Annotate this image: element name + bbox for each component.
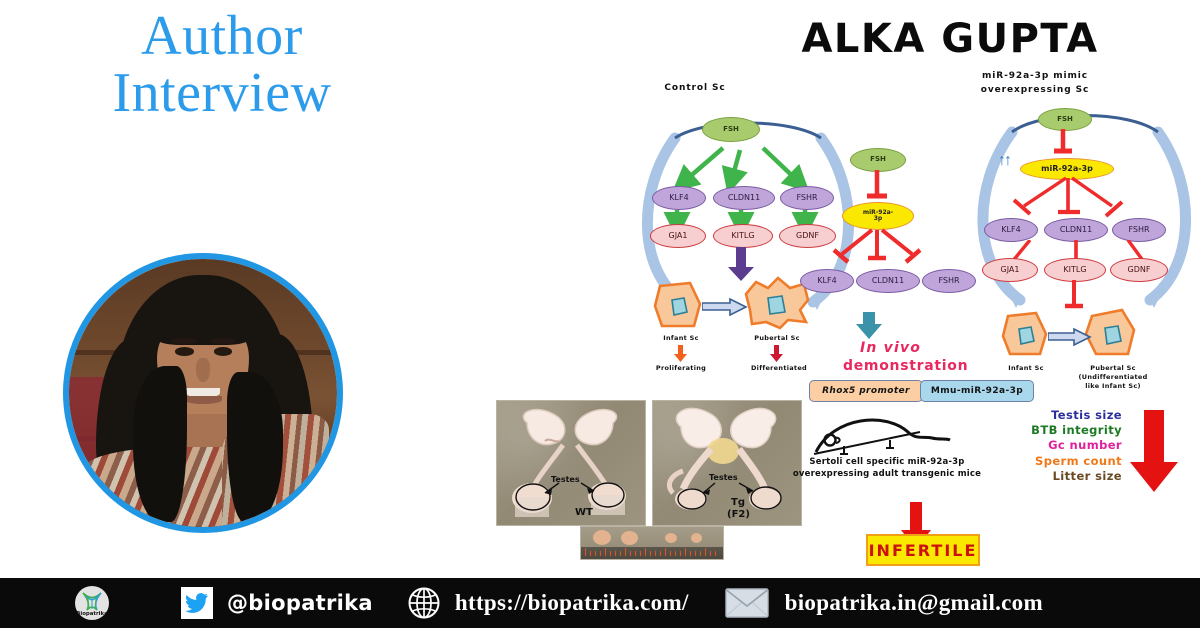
label-pubertal-sc-right-l2: (Undifferentiated <box>1070 373 1156 381</box>
node-fshr-middle: FSHR <box>922 269 976 293</box>
cell-transition-arrow-right <box>1048 328 1092 346</box>
twitter-icon[interactable] <box>181 587 213 619</box>
inhibition-fsh-to-mir-middle <box>864 170 894 204</box>
graphical-abstract: Control Sc miR-92a-3p mimic overexpressi… <box>470 62 1200 572</box>
twitter-handle[interactable]: @biopatrika <box>227 591 373 615</box>
differentiated-arrow-icon <box>770 345 784 363</box>
mouse-caption-l1: Sertoli cell specific miR-92a-3p <box>792 456 982 468</box>
tag-mmu-mir-92a-3p: Mmu-miR-92a-3p <box>920 380 1034 402</box>
metric-litter-size: Litter size <box>1010 469 1122 484</box>
footer-website[interactable]: https://biopatrika.com/ <box>407 586 689 620</box>
label-tg-l2: (F2) <box>727 509 750 520</box>
demonstration-label: demonstration <box>843 358 968 374</box>
globe-icon <box>407 586 441 620</box>
node-fsh-middle: FSH <box>850 148 906 172</box>
node-kitlg-right: KITLG <box>1044 258 1106 282</box>
in-vivo-label: In vivo <box>860 340 921 356</box>
infant-sertoli-cell-left <box>650 280 710 332</box>
phenotype-metrics-list: Testis size BTB integrity Gc number Sper… <box>1010 408 1122 484</box>
metric-testis-size: Testis size <box>1010 408 1122 423</box>
label-tg-l1: Tg <box>731 497 745 508</box>
biopatrika-logo-icon: Biopatrika <box>75 586 109 620</box>
infant-sertoli-cell-right <box>998 310 1054 360</box>
node-cldn11-right: CLDN11 <box>1044 218 1108 242</box>
inhibition-fsh-to-mir-right <box>1052 129 1078 159</box>
metric-gc-number: Gc number <box>1010 438 1122 453</box>
website-url[interactable]: https://biopatrika.com/ <box>455 590 689 616</box>
status-badge-infertile: INFERTILE <box>866 534 980 566</box>
footer-logo: Biopatrika <box>75 586 109 620</box>
label-differentiated: Differentiated <box>734 364 824 372</box>
metric-sperm-count: Sperm count <box>1010 454 1122 469</box>
node-gdnf-right: GDNF <box>1110 258 1168 282</box>
avatar-ring <box>63 253 343 533</box>
node-fsh-right: FSH <box>1038 108 1092 131</box>
label-proliferating: Proliferating <box>638 364 724 372</box>
panel-title-mimic-l2: overexpressing Sc <box>950 84 1120 96</box>
node-fshr-right: FSHR <box>1112 218 1166 242</box>
node-gja1-left: GJA1 <box>650 224 706 248</box>
label-pubertal-sc-right-l3: like Infant Sc) <box>1070 382 1156 390</box>
transgenic-mouse-icon <box>812 410 962 458</box>
node-klf4-middle: KLF4 <box>800 269 854 293</box>
cell-transition-arrow-left <box>702 298 748 316</box>
in-vivo-down-arrow-icon <box>854 312 884 340</box>
author-name: ALKA GUPTA <box>700 16 1200 62</box>
label-pubertal-sc-right-l1: Pubertal Sc <box>1070 364 1156 372</box>
node-fshr-left: FSHR <box>780 186 834 210</box>
photo-wt-testes: Testes WT <box>496 400 646 526</box>
label-infant-sc-left: Infant Sc <box>642 334 720 342</box>
node-cldn11-middle: CLDN11 <box>856 269 920 293</box>
tag-rhox5-promoter: Rhox5 promoter <box>809 380 923 402</box>
panel-title-mimic-l1: miR-92a-3p mimic <box>950 70 1120 82</box>
label-wt: WT <box>575 507 593 518</box>
title-line-interview: Interview <box>52 65 392 122</box>
decrease-arrow-icon <box>1128 410 1180 494</box>
email-address[interactable]: biopatrika.in@gmail.com <box>785 590 1043 616</box>
node-klf4-right: KLF4 <box>984 218 1038 242</box>
label-testes-tg: Testes <box>709 473 738 482</box>
biopatrika-logo-text: Biopatrika <box>75 611 109 617</box>
node-mir-92a-3p-middle: miR-92a- 3p <box>842 202 914 230</box>
envelope-icon <box>725 587 769 619</box>
metric-btb-integrity: BTB integrity <box>1010 423 1122 438</box>
node-klf4-left: KLF4 <box>652 186 706 210</box>
mouse-caption-l2: overexpressing adult transgenic mice <box>786 468 988 480</box>
author-interview-poster: Author Interview ALKA GUPTA Control Sc m… <box>0 0 1200 628</box>
title-line-author: Author <box>52 8 392 65</box>
avatar <box>63 253 343 533</box>
page-title: Author Interview <box>52 8 392 122</box>
label-pubertal-sc-left: Pubertal Sc <box>734 334 820 342</box>
upregulation-arrows: ↑↑ <box>998 152 1010 170</box>
label-testes-wt: Testes <box>551 475 580 484</box>
panel-title-control: Control Sc <box>640 82 750 94</box>
avatar-image <box>69 259 337 527</box>
node-gja1-right: GJA1 <box>982 258 1038 282</box>
mir-label-line2: 3p <box>874 216 882 222</box>
footer-twitter[interactable]: @biopatrika <box>181 587 373 619</box>
footer-bar: Biopatrika @biopatrika https://biopatrik… <box>0 578 1200 628</box>
node-kitlg-left: KITLG <box>713 224 773 248</box>
footer-email[interactable]: biopatrika.in@gmail.com <box>725 587 1043 619</box>
testes-ruler-strip <box>580 526 724 560</box>
photo-tg-testes: Testes Tg (F2) <box>652 400 802 526</box>
node-cldn11-left: CLDN11 <box>713 186 775 210</box>
label-infant-sc-right: Infant Sc <box>988 364 1064 372</box>
proliferating-arrow-icon <box>674 345 688 363</box>
